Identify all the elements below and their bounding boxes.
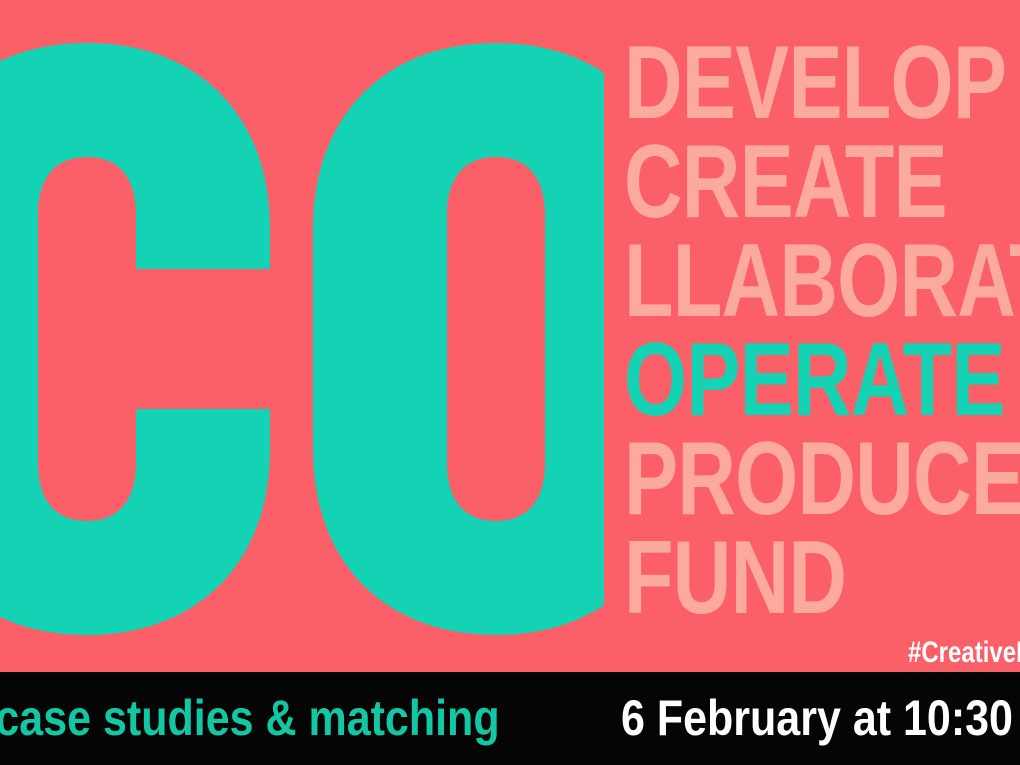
word-operate: OPERATE [624,331,991,430]
screenshot-canvas: DEVELOP CREATE LLABORATE OPERATE PRODUCE… [0,0,1020,765]
co-monogram [0,43,604,635]
word-fund: FUND [624,529,991,628]
ticker-session-date: 6 February at 10:30 [621,672,1013,765]
monogram-letter-c [0,43,270,635]
artboard: DEVELOP CREATE LLABORATE OPERATE PRODUCE… [0,0,1020,672]
co-monogram-svg [0,43,604,635]
campaign-hashtag: #CreativeEu [908,638,1020,668]
word-develop: DEVELOP [624,34,991,133]
word-create: CREATE [624,133,991,232]
bottom-ticker-bar: ation Lab: case studies & matching 6 Feb… [0,672,1020,765]
ticker-session-title: ation Lab: case studies & matching [0,672,500,765]
monogram-letter-o [313,43,604,635]
word-llaborate: LLABORATE [624,232,991,331]
word-produce: PRODUCE [624,430,991,529]
ticker-content: ation Lab: case studies & matching 6 Feb… [0,672,1020,765]
word-stack: DEVELOP CREATE LLABORATE OPERATE PRODUCE… [624,34,1020,634]
